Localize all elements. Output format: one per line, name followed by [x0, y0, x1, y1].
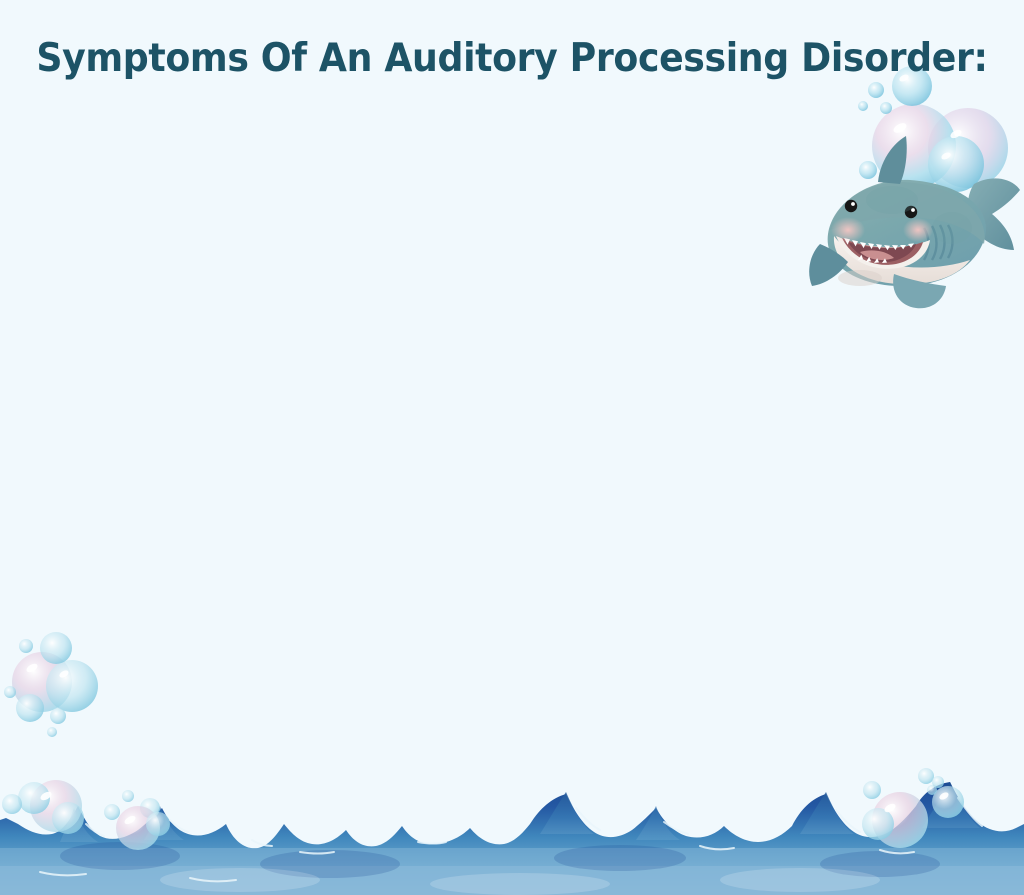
- bubbles-wave-right-icon: [856, 764, 1024, 864]
- wave-footer-graphic: [0, 780, 1024, 895]
- page-title: Symptoms Of An Auditory Processing Disor…: [36, 36, 988, 81]
- bubbles-top-icon: [846, 60, 1024, 220]
- bubbles-wave-left-icon: [0, 776, 270, 881]
- bubbles-left-icon: [0, 604, 114, 784]
- poster-canvas: Symptoms Of An Auditory Processing Disor…: [0, 0, 1024, 895]
- shark-icon: [806, 78, 1024, 310]
